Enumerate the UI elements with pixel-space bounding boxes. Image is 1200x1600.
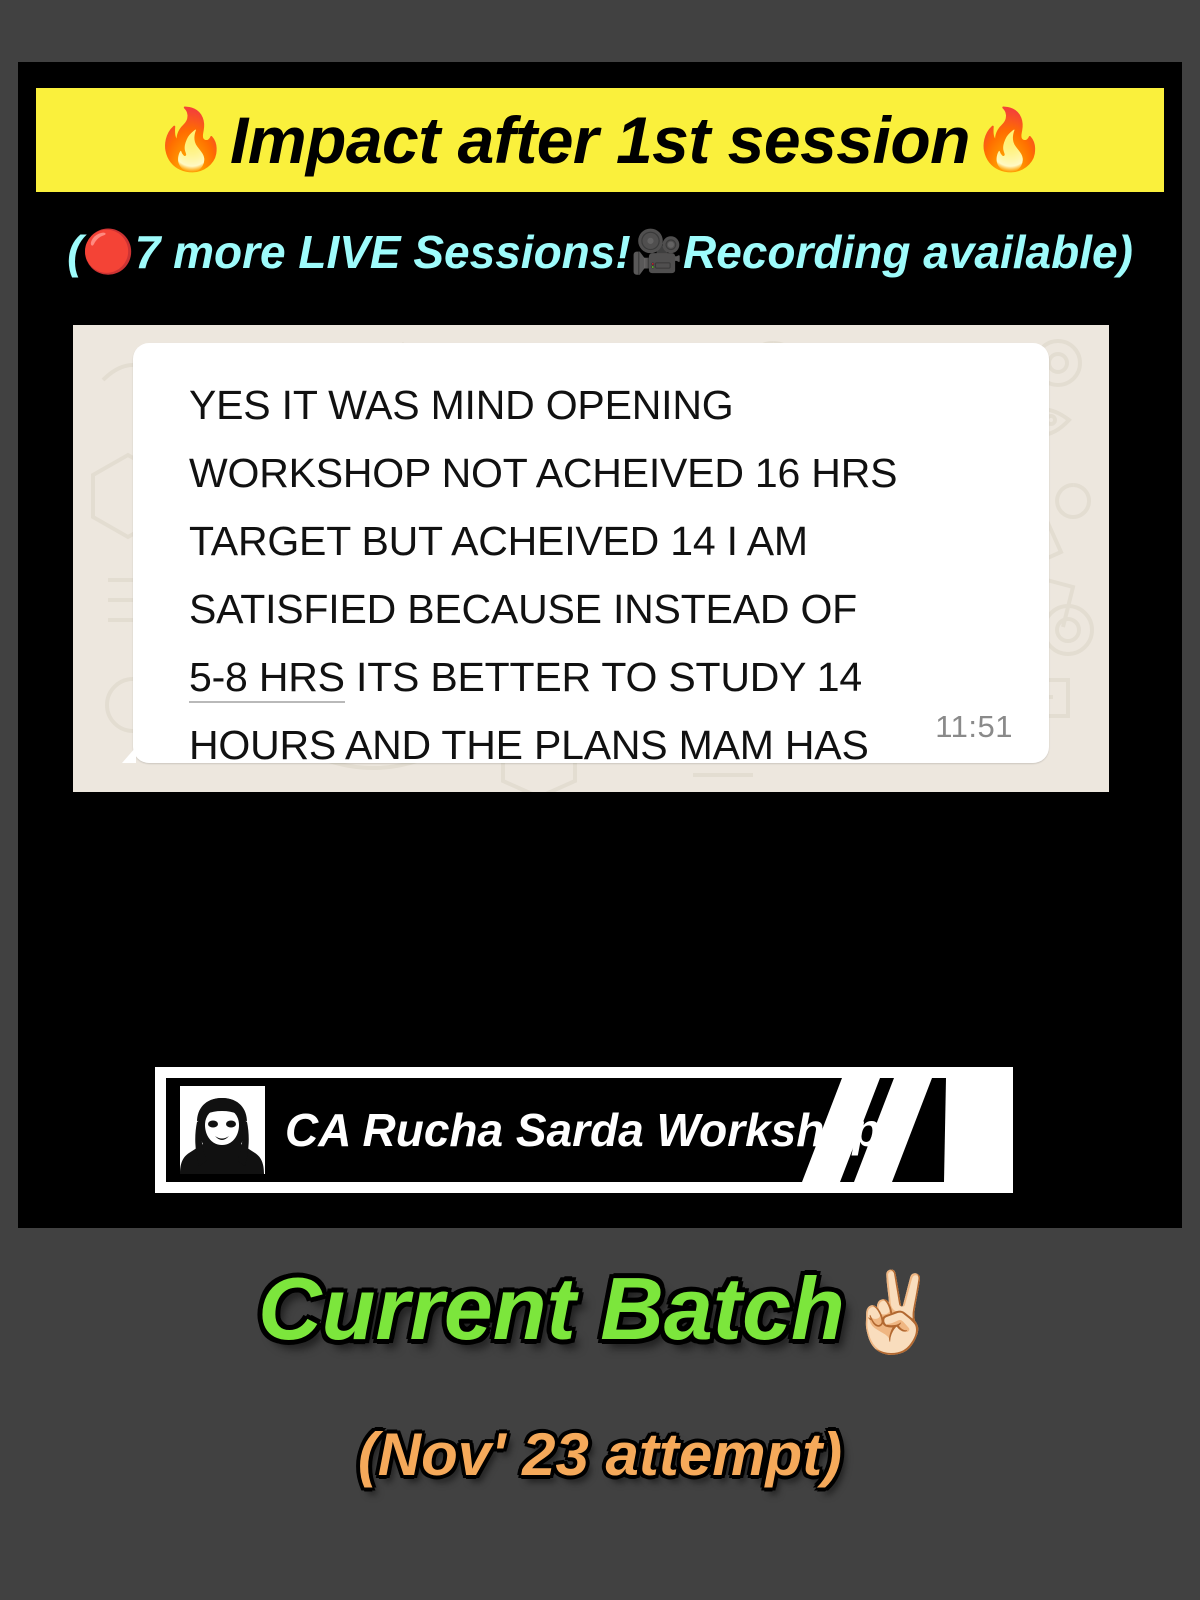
slash-decoration-icon [802, 1078, 1002, 1182]
branding-bar-inner: CA Rucha Sarda Workshop [166, 1078, 1002, 1182]
whatsapp-screenshot: YES IT WAS MIND OPENING WORKSHOP NOT ACH… [73, 325, 1109, 792]
current-batch-heading: Current Batch✌🏻 [0, 1258, 1200, 1360]
message-line-1: YES IT WAS MIND OPENING [189, 382, 733, 428]
message-line-2: WORKSHOP NOT ACHEIVED 16 HRS [189, 450, 897, 496]
message-timestamp: 11:51 [935, 709, 1013, 745]
message-line-7: GIVEN GIVING ME CONFIDENCE [189, 790, 822, 792]
subtitle-row: ( 🔴 7 more LIVE Sessions! 🎥 Recording av… [18, 208, 1182, 296]
message-line-5-rest: ITS BETTER TO STUDY 14 [345, 654, 862, 700]
black-card: 🔥 Impact after 1st session 🔥 ( 🔴 7 more … [18, 62, 1182, 1228]
subtitle-sessions-text: 7 more LIVE Sessions! [135, 225, 631, 279]
fire-icon-right: 🔥 [972, 110, 1046, 170]
message-line-6: HOURS AND THE PLANS MAM HAS [189, 722, 869, 768]
avatar [180, 1086, 265, 1174]
message-line-3: TARGET BUT ACHEIVED 14 I AM [189, 518, 808, 564]
victory-hand-icon: ✌🏻 [845, 1268, 942, 1356]
brand-name: CA Rucha Sarda Workshop [285, 1103, 881, 1157]
promo-poster: 🔥 Impact after 1st session 🔥 ( 🔴 7 more … [0, 0, 1200, 1600]
page-title: Impact after 1st session [230, 102, 970, 178]
subtitle-recording-text: Recording available) [683, 225, 1133, 279]
headline-text-row: 🔥 Impact after 1st session 🔥 [154, 102, 1046, 178]
attempt-subheading: (Nov' 23 attempt) [0, 1420, 1200, 1489]
current-batch-label: Current Batch [258, 1259, 845, 1358]
message-detected-link[interactable]: 5-8 HRS [189, 654, 345, 703]
subtitle-text: ( 🔴 7 more LIVE Sessions! 🎥 Recording av… [67, 225, 1133, 279]
chat-message-text: YES IT WAS MIND OPENING WORKSHOP NOT ACH… [189, 371, 1009, 792]
instructor-portrait-icon [180, 1086, 265, 1174]
chat-bubble: YES IT WAS MIND OPENING WORKSHOP NOT ACH… [133, 343, 1049, 763]
fire-icon-left: 🔥 [154, 110, 228, 170]
red-circle-icon: 🔴 [82, 231, 134, 273]
headline-banner: 🔥 Impact after 1st session 🔥 [36, 88, 1164, 192]
subtitle-open-paren: ( [67, 225, 82, 279]
movie-camera-icon: 🎥 [631, 231, 683, 273]
message-line-4: SATISFIED BECAUSE INSTEAD OF [189, 586, 857, 632]
branding-bar: CA Rucha Sarda Workshop [155, 1067, 1013, 1193]
